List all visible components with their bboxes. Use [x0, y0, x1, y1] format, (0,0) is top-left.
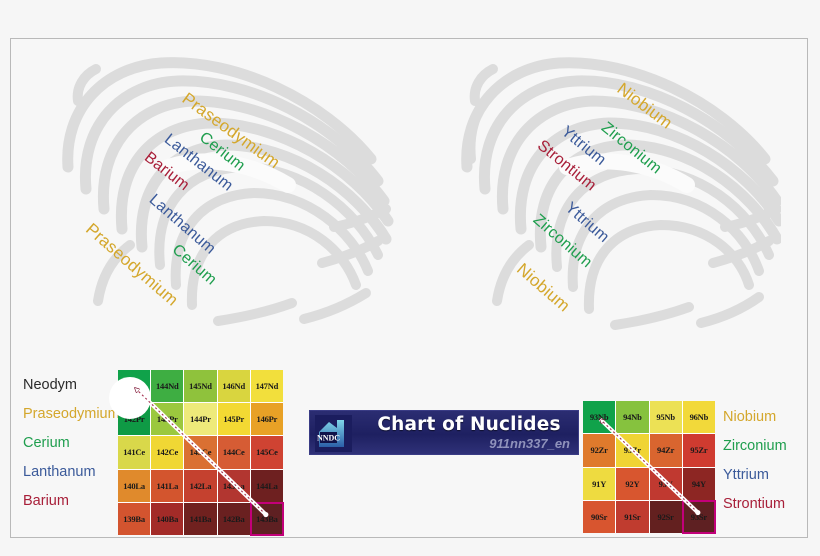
nuclide-cell[interactable]: 143Pr	[151, 403, 183, 435]
nndc-banner[interactable]: NNDC Chart of Nuclides 911nn337_en	[309, 410, 579, 455]
nuclide-cell[interactable]: 147Nd	[251, 370, 283, 402]
legend-item-zirconium: Zirconium	[723, 432, 819, 461]
nuclide-cell[interactable]: 143La	[218, 470, 250, 502]
nuclide-cell[interactable]: 93Sr	[683, 501, 715, 533]
nuclide-cell[interactable]: 144Ce	[218, 436, 250, 468]
nuclide-cell[interactable]: 144Pr	[184, 403, 216, 435]
nuclide-cell[interactable]: 146Pr	[251, 403, 283, 435]
banner-subtitle: 911nn337_en	[362, 436, 570, 451]
nuclide-cell[interactable]: 140Ba	[151, 503, 183, 535]
legend-item-niobium: Niobium	[723, 403, 819, 432]
left-fingerprint: Praseodymium Cerium Lanthanum Barium Lan…	[56, 49, 396, 339]
legend-item-praseodymium: Praseodymium	[23, 400, 123, 429]
nuclide-cell[interactable]: 143Ba	[251, 503, 283, 535]
legend-label: Lanthanum	[23, 464, 96, 480]
nuclide-cell[interactable]: 90Sr	[583, 501, 615, 533]
legend-label: Zirconium	[723, 438, 787, 454]
legend-label: Cerium	[23, 435, 70, 451]
nuclide-cell[interactable]: 92Zr	[583, 434, 615, 466]
nndc-house-icon: NNDC	[315, 415, 352, 452]
nuclide-cell[interactable]: 95Nb	[650, 401, 682, 433]
nuclide-cell[interactable]: 143Ce	[184, 436, 216, 468]
nuclide-cell[interactable]: 141Ba	[184, 503, 216, 535]
legend-item-barium: Barium	[23, 487, 123, 516]
nuclide-cell[interactable]: 145Nd	[184, 370, 216, 402]
legend-label: Neodym	[23, 377, 77, 393]
nuclide-cell[interactable]: 145Pr	[218, 403, 250, 435]
nuclide-cell[interactable]: 92Sr	[650, 501, 682, 533]
nuclide-cell[interactable]: 95Zr	[683, 434, 715, 466]
nuclide-cell[interactable]: 146Nd	[218, 370, 250, 402]
nuclide-cell[interactable]: 140La	[118, 470, 150, 502]
nuclide-cell[interactable]: 139Ba	[118, 503, 150, 535]
nuclide-cell[interactable]: 141Ce	[118, 436, 150, 468]
legend-label: Strontium	[723, 496, 785, 512]
nuclide-cell[interactable]: 94Nb	[616, 401, 648, 433]
legend-label: Yttrium	[723, 467, 769, 483]
right-fingerprint: Niobium Zirconium Yttrium Strontium Yttr…	[451, 51, 781, 341]
legend-label: Praseodymium	[23, 406, 120, 422]
nuclide-cell[interactable]: 141La	[151, 470, 183, 502]
diagram-frame: Praseodymium Cerium Lanthanum Barium Lan…	[10, 38, 808, 538]
nndc-logo-icon: NNDC	[315, 415, 352, 452]
legend-item-cerium: Cerium	[23, 429, 123, 458]
nuclide-cell[interactable]: 144Nd	[151, 370, 183, 402]
nuclide-cell[interactable]: 91Y	[583, 468, 615, 500]
nuclide-cell[interactable]: 94Zr	[650, 434, 682, 466]
legend-item-strontium: Strontium	[723, 490, 819, 519]
nuclide-cell[interactable]: 91Sr	[616, 501, 648, 533]
nuclide-grid-light: 93Nb94Nb95Nb96Nb92Zr93Zr94Zr95Zr91Y92Y93…	[583, 401, 715, 533]
nuclide-cell[interactable]: 142Ba	[218, 503, 250, 535]
screenshot-stage: Praseodymium Cerium Lanthanum Barium Lan…	[0, 0, 820, 556]
nndc-logo-text: NNDC	[317, 434, 340, 443]
banner-title: Chart of Nuclides	[362, 414, 576, 435]
nuclide-cell[interactable]: 93Zr	[616, 434, 648, 466]
nuclide-cell[interactable]: 145Ce	[251, 436, 283, 468]
nuclide-cell[interactable]: 93Y	[650, 468, 682, 500]
nuclide-cell[interactable]: 144La	[251, 470, 283, 502]
left-legend: Neodym Praseodymium Cerium Lanthanum Bar…	[23, 371, 123, 516]
left-highlight-dot	[109, 377, 151, 419]
nuclide-cell[interactable]: 142La	[184, 470, 216, 502]
legend-item-lanthanum: Lanthanum	[23, 458, 123, 487]
nuclide-cell[interactable]: 96Nb	[683, 401, 715, 433]
nuclide-cell[interactable]: 92Y	[616, 468, 648, 500]
legend-label: Niobium	[723, 409, 776, 425]
right-legend: Niobium Zirconium Yttrium Strontium	[723, 403, 819, 519]
legend-label: Barium	[23, 493, 69, 509]
nuclide-cell[interactable]: 94Y	[683, 468, 715, 500]
legend-item-neodym: Neodym	[23, 371, 123, 400]
nuclide-cell[interactable]: 93Nb	[583, 401, 615, 433]
legend-item-yttrium: Yttrium	[723, 461, 819, 490]
nuclide-cell[interactable]: 142Ce	[151, 436, 183, 468]
